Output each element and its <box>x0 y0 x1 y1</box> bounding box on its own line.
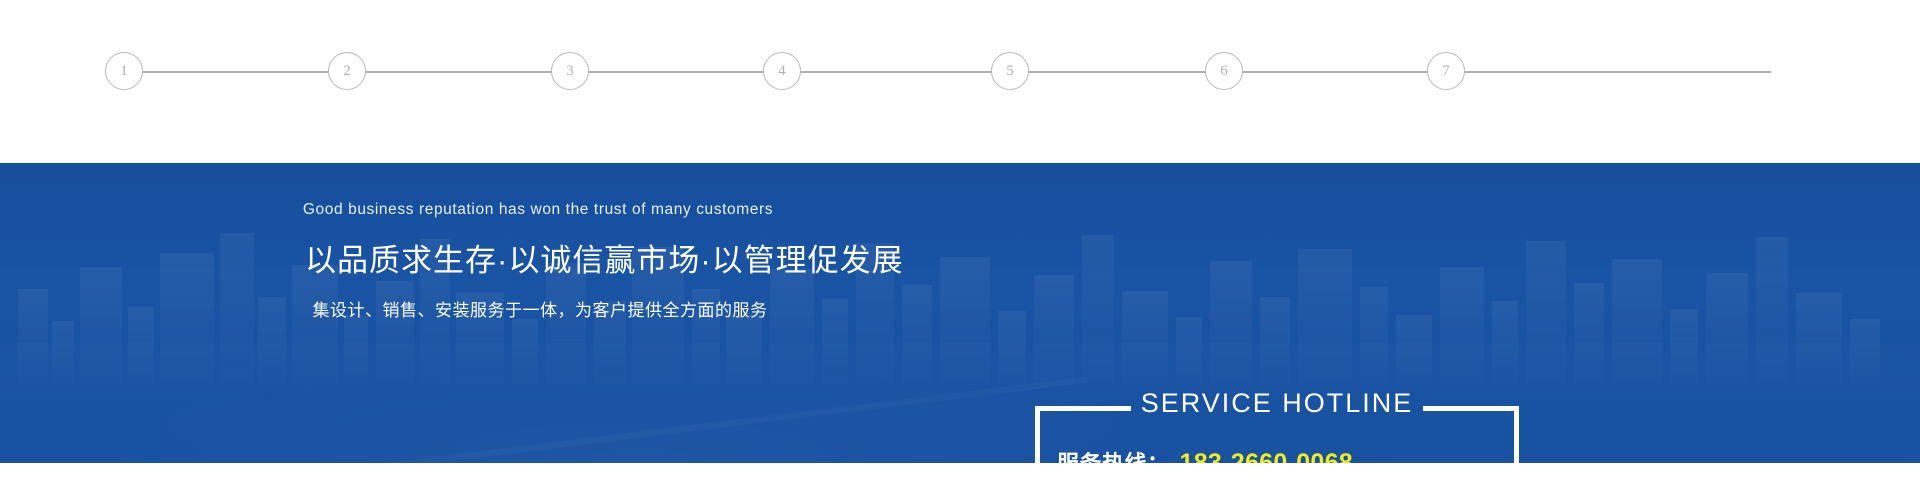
service-hotline-box: SERVICE HOTLINE 服务热线： 183-2660-0068 0551… <box>1035 406 1519 463</box>
step-progress-strip: 1 2 3 4 5 6 7 <box>0 0 1920 163</box>
promo-band: Good business reputation has won the tru… <box>0 163 1920 463</box>
step-node-2[interactable]: 2 <box>328 52 366 90</box>
step-node-3[interactable]: 3 <box>551 52 589 90</box>
slogan-chinese-headline: 以品质求生存·以诚信赢市场·以管理促发展 <box>305 235 775 280</box>
step-node-label: 2 <box>343 64 351 79</box>
slogan-chinese-subline: 集设计、销售、安装服务于一体，为客户提供全方面的服务 <box>305 296 775 321</box>
step-node-1[interactable]: 1 <box>105 52 143 90</box>
hotline-rows: 服务热线： 183-2660-0068 0551-63749777 <box>1035 446 1519 463</box>
step-node-label: 3 <box>566 64 574 79</box>
step-node-label: 6 <box>1220 64 1228 79</box>
slogan-english-line: Good business reputation has won the tru… <box>301 201 775 219</box>
step-node-7[interactable]: 7 <box>1427 52 1465 90</box>
step-node-5[interactable]: 5 <box>991 52 1029 90</box>
step-node-label: 1 <box>120 64 128 79</box>
step-node-label: 5 <box>1006 64 1014 79</box>
slogan-block: Good business reputation has won the tru… <box>305 201 775 321</box>
band-vignette <box>0 163 1920 463</box>
step-node-label: 4 <box>778 64 786 79</box>
step-node-label: 7 <box>1442 64 1450 79</box>
hotline-row-primary: 服务热线： 183-2660-0068 <box>1057 446 1519 463</box>
footer-banner: 1 2 3 4 5 6 7 <box>0 0 1920 500</box>
step-node-4[interactable]: 4 <box>763 52 801 90</box>
hotline-label: 服务热线： <box>1057 446 1170 463</box>
hotline-title: SERVICE HOTLINE <box>1035 388 1519 419</box>
hotline-number-primary[interactable]: 183-2660-0068 <box>1180 449 1354 463</box>
step-node-6[interactable]: 6 <box>1205 52 1243 90</box>
